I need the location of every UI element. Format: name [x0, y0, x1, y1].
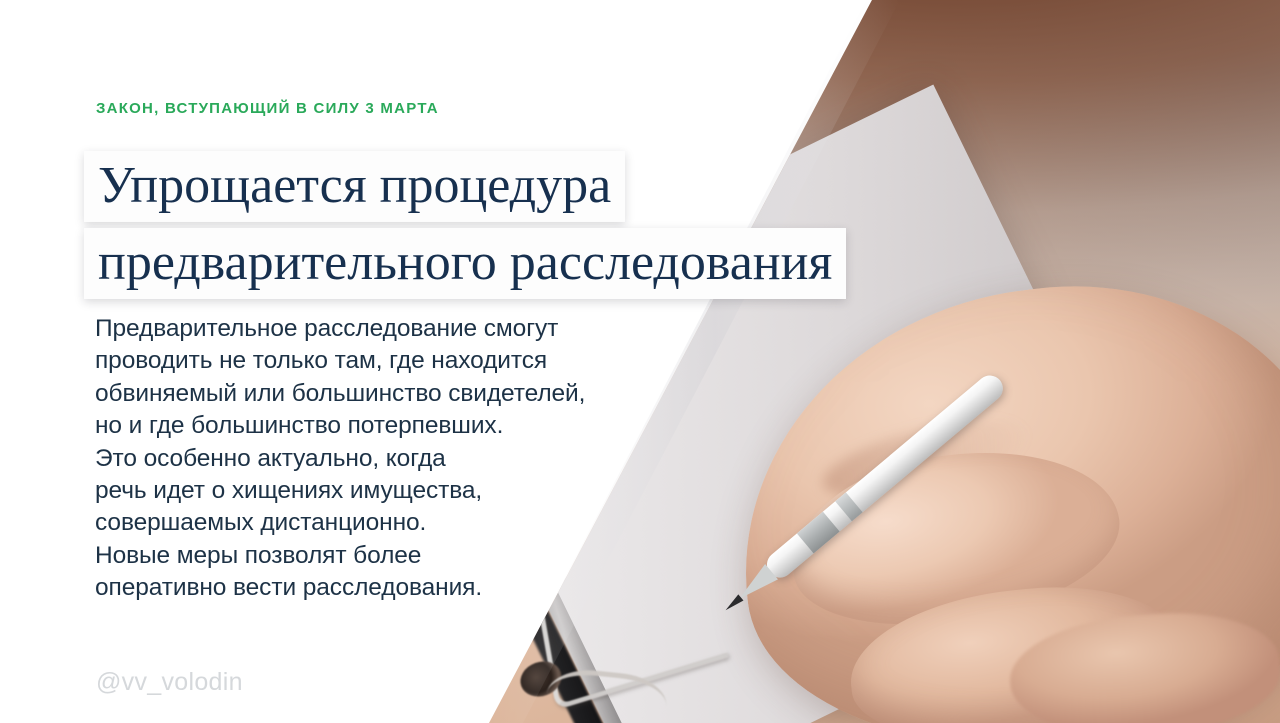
content-layer: ЗАКОН, ВСТУПАЮЩИЙ В СИЛУ 3 МАРТА Упрощае… [0, 0, 1280, 723]
slide-card: ЗАКОН, ВСТУПАЮЩИЙ В СИЛУ 3 МАРТА Упрощае… [0, 0, 1280, 723]
watermark-handle: @vv_volodin [96, 668, 243, 697]
headline-highlight-box-1: Упрощается процедура [84, 151, 625, 222]
headline-line-2: предварительного расследования [98, 234, 832, 291]
eyebrow-label: ЗАКОН, ВСТУПАЮЩИЙ В СИЛУ 3 МАРТА [96, 100, 439, 117]
headline-line-1-row: Упрощается процедура [84, 151, 625, 222]
headline-highlight-box-2: предварительного расследования [84, 228, 846, 299]
headline-line-1: Упрощается процедура [98, 157, 611, 214]
body-paragraph: Предварительное расследование смогут про… [95, 313, 585, 605]
headline-line-2-row: предварительного расследования [84, 228, 846, 299]
